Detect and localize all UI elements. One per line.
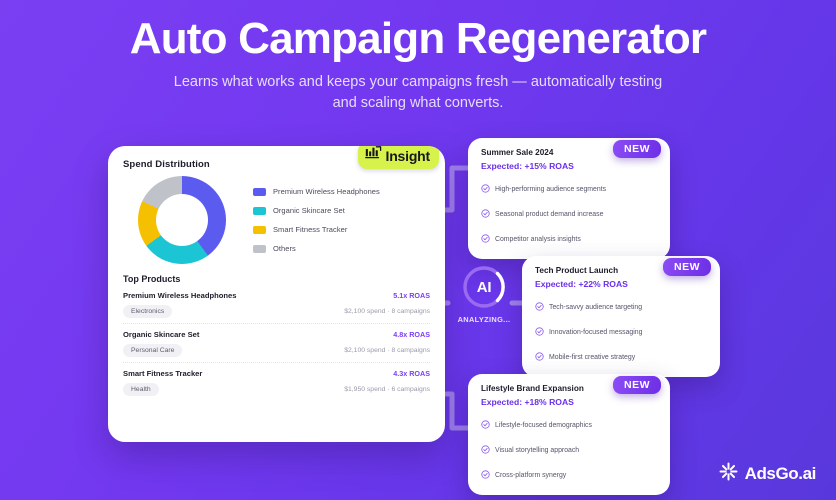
check-circle-icon [535, 323, 544, 341]
suggestion-item-text: Seasonal product demand increase [495, 211, 603, 218]
suggestion-item-text: Innovation-focused messaging [549, 329, 642, 336]
suggestion-list-item: Mobile-first creative strategy [535, 348, 707, 366]
suggestion-card-tech-launch[interactable]: Tech Product Launch Expected: +22% ROAS … [522, 256, 720, 377]
product-row[interactable]: Organic Skincare Set 4.8x ROAS Personal … [123, 323, 430, 362]
product-meta: $2,100 spend · 8 campaigns [344, 347, 430, 354]
chart-legend: Premium Wireless HeadphonesOrganic Skinc… [241, 187, 430, 253]
check-circle-icon [481, 205, 490, 223]
suggestion-title-block: Lifestyle Brand Expansion Expected: +18%… [481, 384, 584, 407]
suggestion-header: Lifestyle Brand Expansion Expected: +18%… [481, 384, 657, 407]
suggestion-items: Tech-savvy audience targeting Innovation… [535, 298, 707, 366]
suggestion-title-block: Tech Product Launch Expected: +22% ROAS [535, 266, 628, 289]
suggestion-item-text: Mobile-first creative strategy [549, 354, 635, 361]
suggestion-list-item: Tech-savvy audience targeting [535, 298, 707, 316]
suggestion-item-text: Tech-savvy audience targeting [549, 304, 642, 311]
suggestion-list-item: Competitor analysis insights [481, 230, 657, 248]
subtitle-line-1: Learns what works and keeps your campaig… [174, 74, 662, 90]
legend-label: Smart Fitness Tracker [273, 225, 347, 234]
suggestion-name: Summer Sale 2024 [481, 148, 574, 157]
top-products-list: Premium Wireless Headphones 5.1x ROAS El… [123, 288, 430, 401]
spend-distribution-title: Spend Distribution [123, 159, 210, 170]
page-subtitle: Learns what works and keeps your campaig… [0, 72, 836, 113]
product-category-chip: Personal Care [123, 344, 182, 357]
legend-label: Others [273, 244, 296, 253]
suggestion-name: Tech Product Launch [535, 266, 628, 275]
ai-ring: AI [461, 264, 507, 310]
product-sub-line: Health $1,950 spend · 6 campaigns [123, 383, 430, 396]
suggestion-list-item: Lifestyle-focused demographics [481, 416, 657, 434]
suggestion-list-item: High-performing audience segments [481, 180, 657, 198]
starburst-icon [719, 462, 738, 486]
suggestion-card-lifestyle-expansion[interactable]: Lifestyle Brand Expansion Expected: +18%… [468, 374, 670, 495]
legend-item: Others [253, 244, 430, 253]
check-circle-icon [481, 466, 490, 484]
spend-dashboard-card[interactable]: Spend Distribution Insight [108, 146, 445, 442]
suggestion-card-summer-sale[interactable]: Summer Sale 2024 Expected: +15% ROAS NEW… [468, 138, 670, 259]
product-roas: 5.1x ROAS [393, 291, 430, 300]
spend-chart-row: Premium Wireless HeadphonesOrganic Skinc… [123, 176, 430, 264]
ai-label: AI [461, 264, 507, 310]
legend-swatch [253, 226, 266, 234]
product-meta: $1,950 spend · 6 campaigns [344, 386, 430, 393]
product-roas: 4.3x ROAS [393, 369, 430, 378]
dashboard-body: Spend Distribution Insight [108, 146, 445, 401]
top-products-title: Top Products [123, 274, 430, 284]
product-sub-line: Personal Care $2,100 spend · 8 campaigns [123, 344, 430, 357]
donut-chart-wrap [123, 176, 241, 264]
product-name: Smart Fitness Tracker [123, 369, 202, 378]
suggestion-name: Lifestyle Brand Expansion [481, 384, 584, 393]
ai-status-caption: ANALYZING... [452, 315, 516, 324]
brand-name: AdsGo.ai [745, 464, 816, 484]
suggestion-item-text: Cross-platform synergy [495, 472, 566, 479]
product-row[interactable]: Premium Wireless Headphones 5.1x ROAS El… [123, 288, 430, 323]
suggestion-title-block: Summer Sale 2024 Expected: +15% ROAS [481, 148, 574, 171]
check-circle-icon [535, 298, 544, 316]
page-title: Auto Campaign Regenerator [0, 16, 836, 62]
legend-swatch [253, 188, 266, 196]
product-main-line: Organic Skincare Set 4.8x ROAS [123, 330, 430, 339]
suggestion-items: Lifestyle-focused demographics Visual st… [481, 416, 657, 484]
donut-chart [138, 176, 226, 264]
check-circle-icon [535, 348, 544, 366]
product-category-chip: Health [123, 383, 159, 396]
legend-item: Premium Wireless Headphones [253, 187, 430, 196]
suggestion-list-item: Visual storytelling approach [481, 441, 657, 459]
product-name: Premium Wireless Headphones [123, 291, 236, 300]
brand-logo: AdsGo.ai [719, 462, 816, 486]
suggestion-items: High-performing audience segments Season… [481, 180, 657, 248]
suggestion-item-text: Visual storytelling approach [495, 447, 579, 454]
insight-badge[interactable]: Insight [358, 146, 439, 169]
suggestion-item-text: Lifestyle-focused demographics [495, 422, 592, 429]
suggestion-header: Summer Sale 2024 Expected: +15% ROAS NEW [481, 148, 657, 171]
ai-analyzing-node: AI ANALYZING... [452, 264, 516, 324]
product-meta: $2,100 spend · 8 campaigns [344, 308, 430, 315]
product-main-line: Premium Wireless Headphones 5.1x ROAS [123, 291, 430, 300]
suggestion-expected: Expected: +15% ROAS [481, 161, 574, 171]
bar-chart-icon [365, 146, 382, 165]
product-row[interactable]: Smart Fitness Tracker 4.3x ROAS Health $… [123, 362, 430, 401]
product-roas: 4.8x ROAS [393, 330, 430, 339]
subtitle-line-2: and scaling what converts. [333, 95, 504, 111]
legend-label: Organic Skincare Set [273, 206, 345, 215]
new-badge: NEW [613, 376, 661, 394]
legend-item: Smart Fitness Tracker [253, 225, 430, 234]
suggestion-list-item: Innovation-focused messaging [535, 323, 707, 341]
product-main-line: Smart Fitness Tracker 4.3x ROAS [123, 369, 430, 378]
product-sub-line: Electronics $2,100 spend · 8 campaigns [123, 305, 430, 318]
legend-label: Premium Wireless Headphones [273, 187, 380, 196]
check-circle-icon [481, 441, 490, 459]
legend-swatch [253, 207, 266, 215]
suggestion-list-item: Cross-platform synergy [481, 466, 657, 484]
header: Auto Campaign Regenerator Learns what wo… [0, 0, 836, 113]
legend-swatch [253, 245, 266, 253]
new-badge: NEW [663, 258, 711, 276]
legend-item: Organic Skincare Set [253, 206, 430, 215]
product-name: Organic Skincare Set [123, 330, 199, 339]
suggestion-header: Tech Product Launch Expected: +22% ROAS … [535, 266, 707, 289]
check-circle-icon [481, 230, 490, 248]
suggestion-expected: Expected: +18% ROAS [481, 397, 584, 407]
poster-stage: Auto Campaign Regenerator Learns what wo… [0, 0, 836, 500]
check-circle-icon [481, 180, 490, 198]
suggestion-expected: Expected: +22% ROAS [535, 279, 628, 289]
insight-badge-label: Insight [386, 148, 430, 164]
check-circle-icon [481, 416, 490, 434]
new-badge: NEW [613, 140, 661, 158]
suggestion-item-text: High-performing audience segments [495, 186, 606, 193]
suggestion-item-text: Competitor analysis insights [495, 236, 581, 243]
product-category-chip: Electronics [123, 305, 172, 318]
suggestion-list-item: Seasonal product demand increase [481, 205, 657, 223]
